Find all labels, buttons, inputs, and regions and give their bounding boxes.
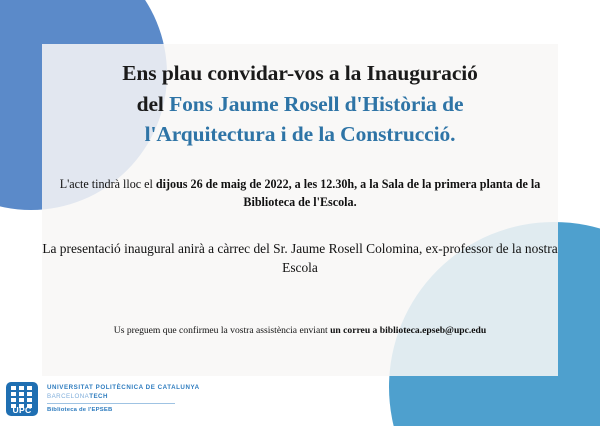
footer-text-block: UNIVERSITAT POLITÈCNICA DE CATALUNYA BAR… — [47, 382, 200, 413]
rsvp-email-bold: un correu a biblioteca.epseb@upc.edu — [330, 325, 486, 336]
footer-university-name: UNIVERSITAT POLITÈCNICA DE CATALUNYA — [47, 384, 200, 391]
poster-headline: Ens plau convidar-vos a la Inauguració d… — [42, 58, 558, 150]
rsvp-paragraph: Us preguem que confirmeu la vostra assis… — [42, 324, 558, 337]
poster-text-layer: Ens plau convidar-vos a la Inauguració d… — [42, 44, 558, 376]
upc-logo-wordmark: UPC — [6, 406, 38, 415]
upc-logo-icon: UPC — [6, 382, 38, 416]
headline-line-2-plain: del — [137, 92, 169, 116]
footer-barcelonatech: BARCELONATECH — [47, 393, 200, 400]
headline-line-1: Ens plau convidar-vos a la Inauguració — [122, 61, 478, 85]
invitation-poster: Ens plau convidar-vos a la Inauguració d… — [0, 0, 600, 426]
headline-line-3-tail: . — [450, 122, 455, 146]
footer-library-name: Biblioteca de l'EPSEB — [47, 407, 200, 413]
headline-line-3-accent: l'Arquitectura i de la Construcció — [145, 122, 451, 146]
rsvp-prefix: Us preguem que confirmeu la vostra assis… — [114, 325, 330, 336]
event-details-bold: dijous 26 de maig de 2022, a les 12.30h,… — [156, 177, 540, 209]
footer-logo-block: UPC UNIVERSITAT POLITÈCNICA DE CATALUNYA… — [6, 382, 200, 416]
headline-line-2-accent: Fons Jaume Rosell d'Història de — [169, 92, 463, 116]
event-details-prefix: L'acte tindrà lloc el — [60, 177, 156, 191]
footer-divider — [47, 403, 175, 404]
footer-tech-label: TECH — [89, 393, 108, 400]
footer-barcelona-label: BARCELONA — [47, 393, 89, 400]
speaker-paragraph: La presentació inaugural anirà a càrrec … — [42, 239, 558, 277]
event-details-paragraph: L'acte tindrà lloc el dijous 26 de maig … — [42, 176, 558, 211]
